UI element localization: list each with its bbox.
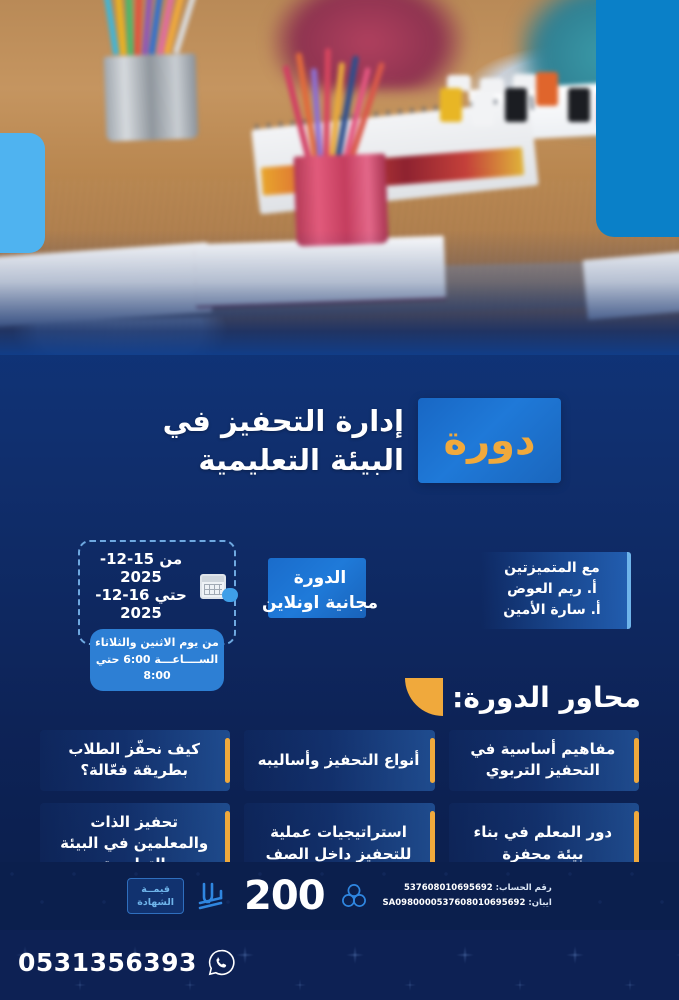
pencil-bundle (100, 0, 210, 55)
header-photo (0, 0, 679, 355)
topics-heading-label: محاور الدورة: (452, 681, 641, 714)
certificate-price: 200 (244, 873, 325, 919)
bank-icon (338, 880, 370, 912)
title-badge: دورة (418, 398, 561, 483)
whatsapp-number: 0531356393 (18, 948, 197, 977)
quarter-circle-icon (405, 678, 443, 716)
pencil-bundle (288, 70, 398, 160)
course-poster: دورة إدارة التحفيز في البيئة التعليمية م… (0, 0, 679, 1000)
payment-content: رقم الحساب: 537608010695692 ايبان: SA098… (127, 873, 552, 919)
instructor-name-1: أ. ريم العوض (489, 579, 615, 600)
date-values: من 15-12-2025 حتي 16-12-2025 (88, 550, 194, 622)
account-number: 537608010695692 (404, 883, 493, 893)
paint-jar (536, 72, 558, 106)
iban-number: SA0980000537608010695692 (383, 898, 526, 908)
paint-jar (505, 88, 527, 122)
certificate-value-badge: قيمــة الشهادة (127, 878, 184, 915)
page-title: دورة إدارة التحفيز في البيئة التعليمية (121, 398, 561, 483)
instructor-name-2: أ. سارة الأمين (489, 600, 615, 621)
free-line-1: الدورة (230, 566, 410, 591)
paint-jar (472, 92, 494, 126)
title-badge-label: دورة (443, 418, 535, 464)
pencil-cup-metal (104, 53, 199, 141)
cert-label-line-1: قيمــة (137, 883, 174, 896)
account-label: رقم الحساب: (496, 883, 552, 893)
instructors-block: مع المتميزتين أ. ريم العوض أ. سارة الأمي… (481, 552, 631, 629)
decor-tab-left (0, 133, 45, 253)
decor-block-right (596, 0, 679, 237)
footer-bar: 0531356393 (0, 930, 679, 1000)
info-row: مع المتميزتين أ. ريم العوض أ. سارة الأمي… (0, 540, 679, 665)
iban-line: ايبان: SA0980000537608010695692 (383, 896, 552, 911)
payment-bar: رقم الحساب: 537608010695692 ايبان: SA098… (0, 862, 679, 930)
topic-card[interactable]: أنواع التحفيز وأساليبه (244, 730, 434, 791)
schedule-time: الســــاعـــة 6:00 حتي 8:00 (94, 652, 220, 685)
photo-gradient-fade (0, 230, 679, 355)
title-line-2: البيئة التعليمية (163, 441, 404, 480)
schedule-days: من يوم الاثنين والثلاثاء (94, 635, 220, 652)
date-card: من 15-12-2025 حتي 16-12-2025 من يوم الاث… (78, 540, 236, 645)
free-online-text: الدورة مجانية اونلاين (230, 566, 410, 615)
paint-jar (568, 88, 590, 122)
iban-label: ايبان: (528, 898, 551, 908)
whatsapp-contact[interactable]: 0531356393 (18, 948, 235, 977)
schedule-pill: من يوم الاثنين والثلاثاء الســــاعـــة 6… (90, 629, 224, 691)
topic-label: مفاهيم أساسية في التحفيز التربوي (461, 739, 625, 782)
instructors-intro: مع المتميزتين (489, 558, 615, 579)
date-to: حتي 16-12-2025 (88, 586, 194, 622)
topic-label: أنواع التحفيز وأساليبه (258, 750, 420, 771)
title-text: إدارة التحفيز في البيئة التعليمية (163, 398, 404, 480)
whatsapp-icon (208, 949, 235, 976)
topics-heading: محاور الدورة: (405, 678, 641, 716)
topic-card[interactable]: مفاهيم أساسية في التحفيز التربوي (449, 730, 639, 791)
calendar-icon (200, 574, 226, 599)
date-from: من 15-12-2025 (88, 550, 194, 586)
topic-card[interactable]: كيف نحفّز الطلاب بطريقة فعّالة؟ (40, 730, 230, 791)
date-header: من 15-12-2025 حتي 16-12-2025 (80, 542, 234, 622)
title-line-1: إدارة التحفيز في (163, 402, 404, 441)
cert-label-line-2: الشهادة (137, 896, 174, 909)
topic-label: كيف نحفّز الطلاب بطريقة فعّالة؟ (52, 739, 216, 782)
topic-label: دور المعلم في بناء بيئة محفزة (461, 822, 625, 865)
topic-label: استراتيجيات عملية للتحفيز داخل الصف (256, 822, 420, 865)
saudi-riyal-icon (197, 881, 231, 911)
account-line: رقم الحساب: 537608010695692 (383, 881, 552, 896)
account-details: رقم الحساب: 537608010695692 ايبان: SA098… (383, 881, 552, 911)
paint-jar (440, 88, 462, 122)
free-line-2: مجانية اونلاين (230, 591, 410, 616)
